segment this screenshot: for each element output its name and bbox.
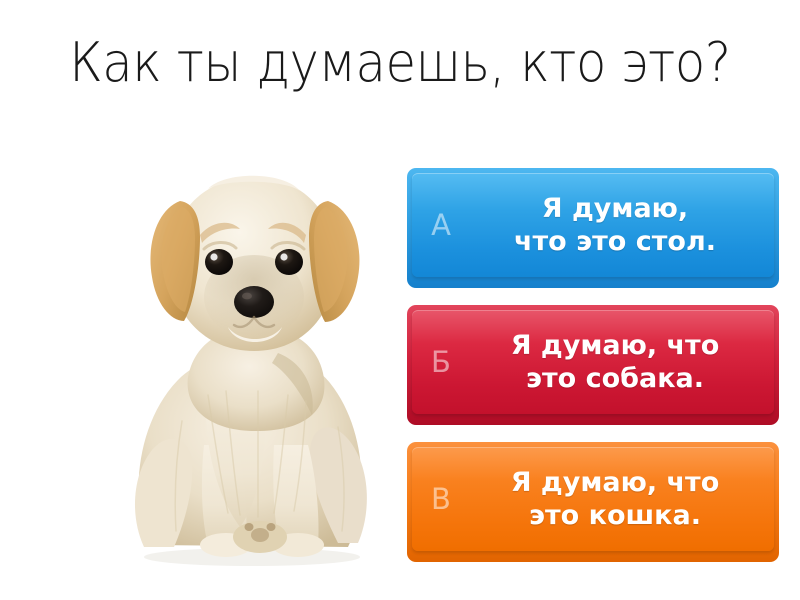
answer-option-b-face: Б Я думаю, что это собака.	[412, 310, 774, 414]
answer-option-a-letter: А	[412, 211, 470, 240]
answer-option-a-face: А Я думаю, что это стол.	[412, 173, 774, 277]
answer-option-c-letter: В	[412, 485, 470, 514]
question-title: Как ты думаешь, кто это?	[32, 30, 768, 96]
answer-option-b[interactable]: Б Я думаю, что это собака.	[407, 305, 779, 425]
answer-option-b-letter: Б	[412, 348, 470, 377]
answer-option-c[interactable]: В Я думаю, что это кошка.	[407, 442, 779, 562]
answer-option-b-text: Я думаю, что это собака.	[470, 329, 774, 395]
answer-option-a[interactable]: А Я думаю, что это стол.	[407, 168, 779, 288]
answer-option-c-face: В Я думаю, что это кошка.	[412, 447, 774, 551]
answer-options-list: А Я думаю, что это стол. Б Я думаю, что …	[407, 168, 779, 563]
quiz-slide: Как ты думаешь, кто это?	[0, 0, 800, 600]
puppy-illustration	[108, 145, 388, 570]
answer-option-a-text: Я думаю, что это стол.	[470, 192, 774, 258]
puppy-image	[108, 145, 388, 570]
answer-option-c-text: Я думаю, что это кошка.	[470, 466, 774, 532]
